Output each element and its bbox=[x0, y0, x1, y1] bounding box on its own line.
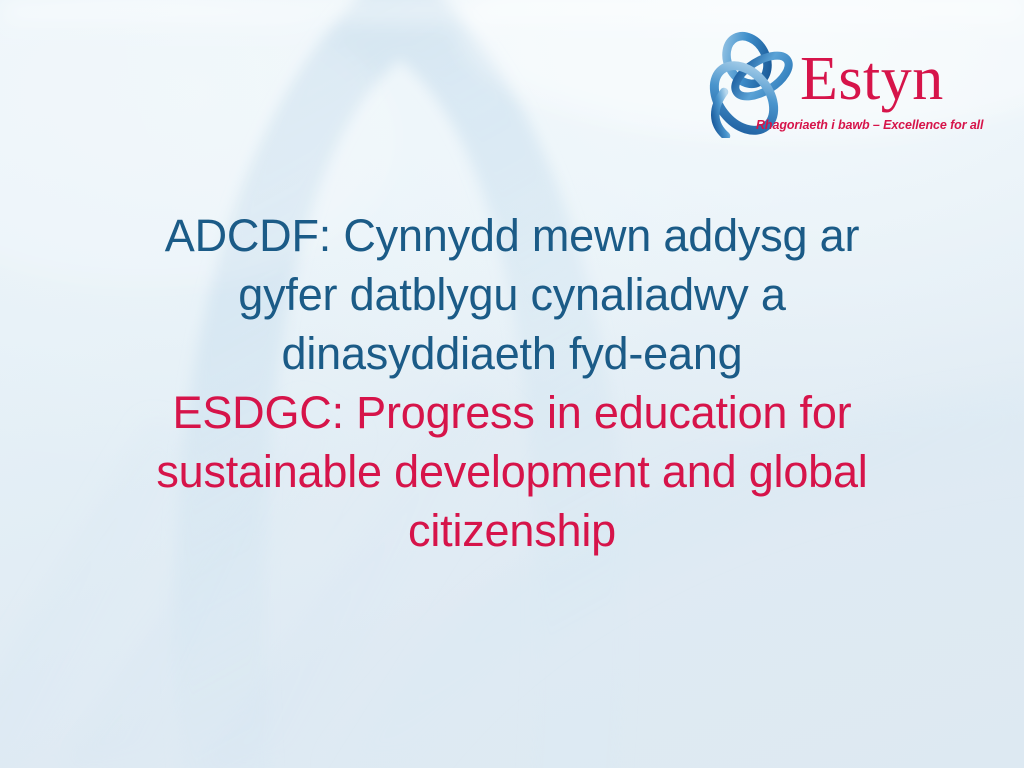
title-welsh-line-1: ADCDF: Cynnydd mewn addysg ar bbox=[62, 206, 962, 265]
title-welsh-line-2: gyfer datblygu cynaliadwy a bbox=[62, 265, 962, 324]
estyn-tagline: Rhagoriaeth i bawb – Excellence for all bbox=[756, 118, 983, 132]
title-english-line-2: sustainable development and global bbox=[62, 442, 962, 501]
title-welsh-line-3: dinasyddiaeth fyd-eang bbox=[62, 324, 962, 383]
estyn-wordmark: Estyn bbox=[800, 48, 944, 110]
slide-title-block: ADCDF: Cynnydd mewn addysg ar gyfer datb… bbox=[62, 206, 962, 560]
title-english-line-1: ESDGC: Progress in education for bbox=[62, 383, 962, 442]
title-english-line-3: citizenship bbox=[62, 501, 962, 560]
title-slide: Estyn Rhagoriaeth i bawb – Excellence fo… bbox=[0, 0, 1024, 768]
estyn-logo: Estyn Rhagoriaeth i bawb – Excellence fo… bbox=[700, 30, 970, 145]
